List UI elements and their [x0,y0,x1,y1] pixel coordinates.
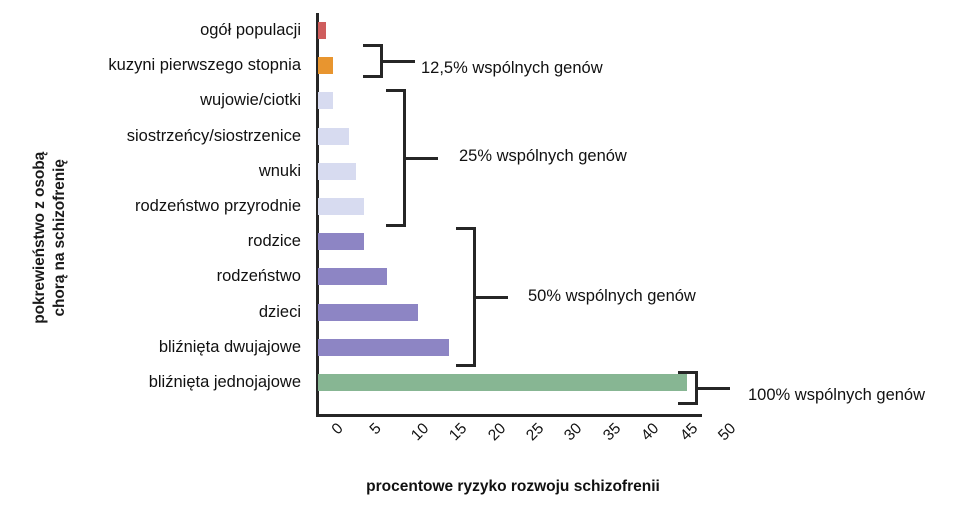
y-axis-tick-labels: ogół populacji kuzyni pierwszego stopnia… [60,13,310,400]
bracket-bottom-arm [363,75,383,78]
bar-rodzenstwo [318,268,387,285]
y-tick-label: ogół populacji [60,13,310,48]
bar-row [318,13,702,48]
bar-row [318,330,702,365]
y-axis-title-line-1: pokrewieństwo z osobą [30,93,50,383]
annotation-label-25: 25% wspólnych genów [459,147,627,166]
y-tick-label: rodzice [60,224,310,259]
x-tick-label: 30 [561,420,586,445]
y-tick-label: rodzeństwo przyrodnie [60,189,310,224]
annotation-label-100: 100% wspólnych genów [748,386,925,405]
bar-row [318,365,702,400]
x-tick-label: 45 [677,420,702,445]
y-tick-label: wujowie/ciotki [60,83,310,118]
y-tick-label: kuzyni pierwszego stopnia [60,48,310,83]
y-tick-label: wnuki [60,154,310,189]
bracket-100 [678,371,698,405]
bar-blizniesta-jednojajowe [318,374,687,391]
x-tick-label: 40 [638,420,663,445]
bracket-stem [406,157,438,160]
y-tick-label: dzieci [60,295,310,330]
bar-row [318,83,702,118]
bracket-bottom-arm [678,402,698,405]
bar-siostrzency-siostrzenice [318,128,349,145]
y-tick-label: bliźnięta dwujajowe [60,330,310,365]
bracket-bottom-arm [456,364,476,367]
annotation-label-12-5: 12,5% wspólnych genów [421,59,603,78]
bracket-25 [386,89,406,227]
x-tick-label: 5 [367,420,386,439]
bracket-stem [698,387,730,390]
bracket-stem [383,60,415,63]
x-tick-label: 10 [408,420,433,445]
schizophrenia-risk-bar-chart: pokrewieństwo z osobą chorą na schizofre… [0,0,975,510]
bar-rodzice [318,233,364,250]
x-tick-label: 15 [446,420,471,445]
y-tick-label: bliźnięta jednojajowe [60,365,310,400]
x-tick-label: 50 [715,420,740,445]
x-axis-title: procentowe ryzyko rozwoju schizofrenii [318,478,708,496]
bar-blizniesta-dwujajowe [318,339,449,356]
bar-wnuki [318,163,356,180]
bar-kuzyni-pierwszego-stopnia [318,57,333,74]
bracket-bottom-arm [386,224,406,227]
x-tick-label: 35 [600,420,625,445]
bracket-12-5 [363,44,383,78]
x-tick-label: 25 [523,420,548,445]
bar-ogol-populacji [318,22,326,39]
annotation-label-50: 50% wspólnych genów [528,287,696,306]
bar-dzieci [318,304,418,321]
x-axis-spine [316,414,702,417]
bar-row [318,189,702,224]
bar-wujowie-ciotki [318,92,333,109]
y-tick-label: siostrzeńcy/siostrzenice [60,119,310,154]
bracket-50 [456,227,476,367]
x-tick-label: 0 [329,420,348,439]
bracket-stem [476,296,508,299]
bar-row [318,224,702,259]
bar-rodzenstwo-przyrodnie [318,198,364,215]
y-tick-label: rodzeństwo [60,259,310,294]
x-axis-tick-labels: 05101520253035404550 [318,420,708,460]
x-tick-label: 20 [485,420,510,445]
